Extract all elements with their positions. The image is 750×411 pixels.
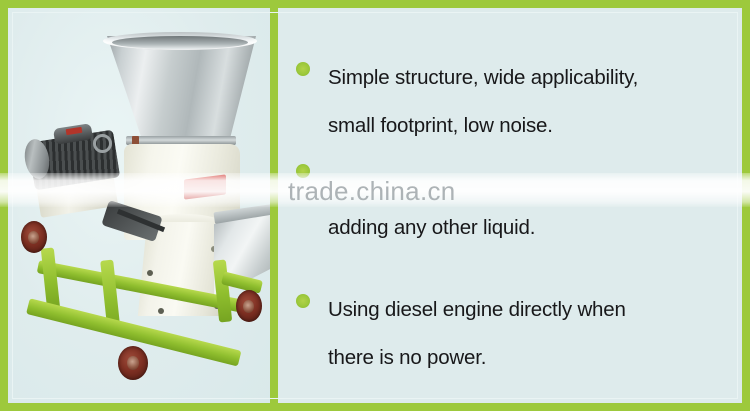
feature-bullet-list: Simple structure, wide applicability, sm… xyxy=(278,8,742,403)
feature-text: Using diesel engine directly when there … xyxy=(328,286,626,382)
motor-lifting-ring xyxy=(93,134,112,153)
feature-text: Simple structure, wide applicability, sm… xyxy=(328,54,638,150)
chamber-bolt xyxy=(147,270,153,276)
bullet-dot-icon xyxy=(296,164,310,178)
caster-wheel-hub xyxy=(127,356,139,370)
chamber-bolt xyxy=(158,308,164,314)
panel-divider xyxy=(270,0,278,411)
bullet-dot-icon xyxy=(296,294,310,308)
pellet-mill-machine-illustration xyxy=(8,8,270,403)
list-item: adding any other liquid. xyxy=(296,156,726,252)
feed-hopper-opening xyxy=(112,36,248,49)
feature-text: adding any other liquid. xyxy=(328,156,535,252)
caster-wheel-hub xyxy=(243,300,254,313)
list-item: Using diesel engine directly when there … xyxy=(296,286,726,382)
feature-text-panel: Simple structure, wide applicability, sm… xyxy=(278,8,742,403)
bullet-dot-icon xyxy=(296,62,310,76)
caster-wheel-hub xyxy=(28,231,39,244)
product-photo-panel xyxy=(8,8,270,403)
list-item: Simple structure, wide applicability, sm… xyxy=(296,54,726,150)
feed-hopper-cone xyxy=(104,36,256,144)
banner-root: Simple structure, wide applicability, sm… xyxy=(0,0,750,411)
